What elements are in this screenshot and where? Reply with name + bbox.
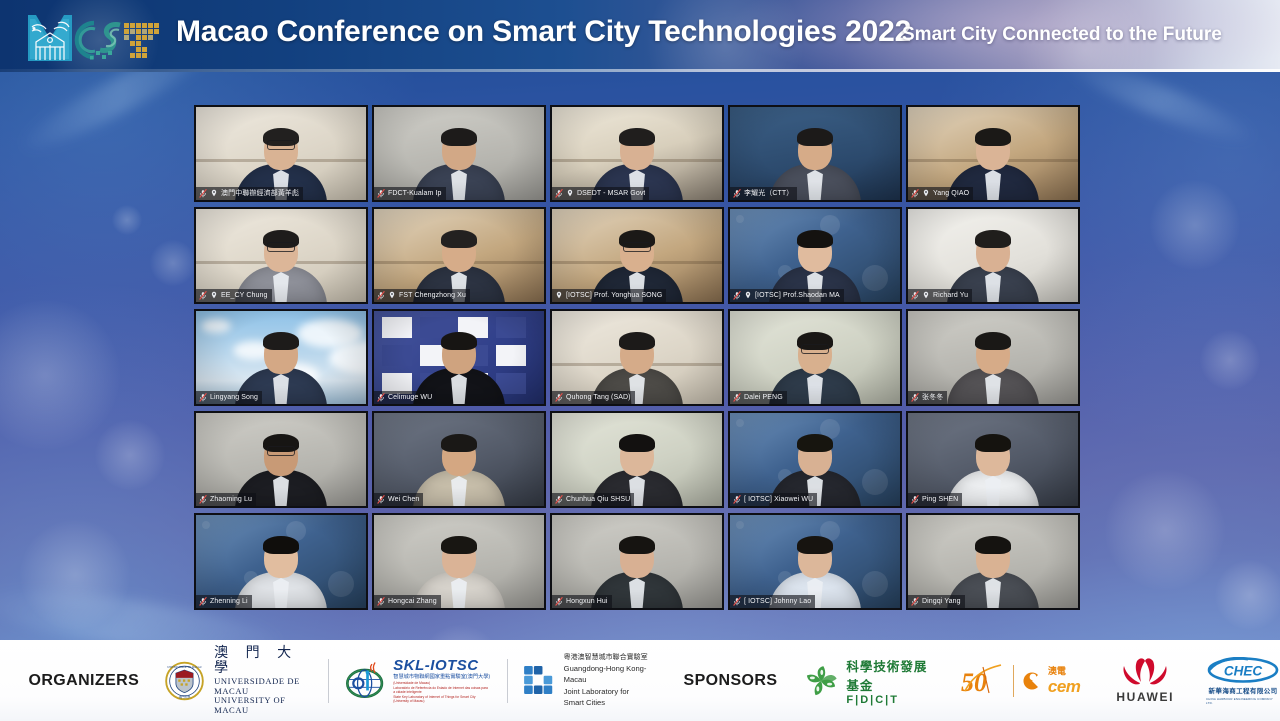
fdct-flower-icon xyxy=(803,658,839,704)
logo-joint-laboratory: 粵港澳智慧城市聯合實驗室 Guangdong-Hong Kong-Macau J… xyxy=(521,653,648,709)
chec-name-sub: CHINA HARBOUR ENGINEERING COMPANY LTD. xyxy=(1206,697,1280,705)
participant-name: Hongxun Hui xyxy=(566,595,608,608)
participant-tile[interactable]: FST Chengzhong Xu xyxy=(372,207,546,304)
bokeh-dot xyxy=(1200,330,1260,390)
participant-name: 澳門中聯辦經濟部黃羊彪 xyxy=(221,187,299,200)
participant-tile[interactable]: [ IOTSC] Xiaowei WU xyxy=(728,411,902,508)
mic-muted-icon xyxy=(733,495,741,504)
mic-muted-icon xyxy=(199,291,207,300)
mic-muted-icon xyxy=(555,495,563,504)
header-subtitle: Smart City Connected to the Future xyxy=(902,24,1222,46)
bokeh-dot xyxy=(20,520,130,630)
participant-name: 张冬冬 xyxy=(922,391,943,404)
mic-muted-icon xyxy=(199,393,207,402)
participant-nameplate: [ IOTSC] Xiaowei WU xyxy=(730,493,817,506)
cem-name-cn: 澳電 xyxy=(1048,664,1081,677)
cube-blocks-icon xyxy=(521,658,555,702)
participant-nameplate: Quhong Tang (SAD) xyxy=(552,391,635,404)
logo-university-of-macau: UNIVERSIDADE DE MACAU 澳門大學 澳 門 大 學 UNIVE… xyxy=(165,646,310,715)
mic-muted-icon xyxy=(911,189,919,198)
pin-icon xyxy=(922,291,930,300)
bokeh-dot xyxy=(112,205,142,235)
mic-muted-icon xyxy=(555,189,563,198)
huawei-flower-icon xyxy=(1118,658,1172,688)
participant-tile[interactable]: EE_CY Chung xyxy=(194,207,368,304)
mic-muted-icon xyxy=(377,189,385,198)
pin-icon xyxy=(210,291,218,300)
logo-fdct: 科學技術發展基金 F|D|C|T xyxy=(803,656,930,706)
participant-nameplate: Zhaoming Lu xyxy=(196,493,256,506)
mic-muted-icon xyxy=(911,393,919,402)
participant-tile[interactable]: Wei Chen xyxy=(372,411,546,508)
fdct-name-en: F|D|C|T xyxy=(846,694,930,706)
participant-nameplate: 李耀光（CTT） xyxy=(730,187,797,200)
participant-name: [IOTSC] Prof. Yonghua SONG xyxy=(566,289,662,302)
participant-tile[interactable]: Dingqi Yang xyxy=(906,513,1080,610)
participant-name: Dingqi Yang xyxy=(922,595,961,608)
chec-mark-icon: CHEC xyxy=(1206,657,1280,683)
participant-tile[interactable]: DSEDT - MSAR Govt xyxy=(550,105,724,202)
participant-nameplate: Dalei PENG xyxy=(730,391,787,404)
bokeh-dot xyxy=(1215,560,1280,630)
participant-nameplate: Hongcai Zhang xyxy=(374,595,441,608)
participant-tile[interactable]: Quhong Tang (SAD) xyxy=(550,309,724,406)
mic-muted-icon xyxy=(733,291,741,300)
participant-name: Yang QIAO xyxy=(933,187,969,200)
participant-nameplate: Wei Chen xyxy=(374,493,423,506)
participant-nameplate: FST Chengzhong Xu xyxy=(374,289,470,302)
participant-name: 李耀光（CTT） xyxy=(744,187,793,200)
svg-text:UNIVERSIDADE DE MACAU: UNIVERSIDADE DE MACAU xyxy=(168,666,202,669)
bokeh-dot xyxy=(0,300,120,450)
participant-tile[interactable]: [ IOTSC] Johnny Lao xyxy=(728,513,902,610)
pin-icon xyxy=(566,189,574,198)
participant-nameplate: Yang QIAO xyxy=(908,187,973,200)
participant-name: FST Chengzhong Xu xyxy=(399,289,466,302)
cem-swirl-icon xyxy=(1020,669,1042,693)
participant-nameplate: EE_CY Chung xyxy=(196,289,272,302)
participant-tile[interactable]: Chunhua Qiu SHSU xyxy=(550,411,724,508)
skl-title: SKL-IOTSC xyxy=(393,657,490,674)
mic-muted-icon xyxy=(377,393,385,402)
participant-tile[interactable]: Richard Yu xyxy=(906,207,1080,304)
pin-icon xyxy=(555,291,563,300)
participant-nameplate: [ IOTSC] Johnny Lao xyxy=(730,595,815,608)
mic-muted-icon xyxy=(733,393,741,402)
participant-name: [ IOTSC] Johnny Lao xyxy=(744,595,811,608)
participant-tile[interactable]: Ping SHEN xyxy=(906,411,1080,508)
participant-nameplate: [IOTSC] Prof. Yonghua SONG xyxy=(552,289,666,302)
um-crest-icon: UNIVERSIDADE DE MACAU 澳門大學 xyxy=(165,656,204,706)
participant-tile[interactable]: Zhaoming Lu xyxy=(194,411,368,508)
participant-tile[interactable]: Hongcai Zhang xyxy=(372,513,546,610)
joint-lab-en2: Joint Laboratory for Smart Cities xyxy=(564,686,649,709)
participant-nameplate: 张冬冬 xyxy=(908,391,947,404)
participant-tile[interactable]: Yang QIAO xyxy=(906,105,1080,202)
skl-name-sub1: Laboratório de Referência do Estado de I… xyxy=(393,686,490,695)
participant-tile[interactable]: FDCT-Kualam Ip xyxy=(372,105,546,202)
logo-cem: 50 澳電 cem xyxy=(959,661,1081,701)
participant-nameplate: FDCT-Kualam Ip xyxy=(374,187,446,200)
um-name-en: UNIVERSITY OF MACAU xyxy=(214,696,310,715)
mic-muted-icon xyxy=(911,495,919,504)
mic-muted-icon xyxy=(555,597,563,606)
participant-name: FDCT-Kualam Ip xyxy=(388,187,442,200)
participant-nameplate: Dingqi Yang xyxy=(908,595,965,608)
participant-tile[interactable]: [IOTSC] Prof.Shaodan MA xyxy=(728,207,902,304)
pin-icon xyxy=(388,291,396,300)
participant-nameplate: Richard Yu xyxy=(908,289,972,302)
participant-tile[interactable]: 张冬冬 xyxy=(906,309,1080,406)
participant-tile[interactable]: Hongxun Hui xyxy=(550,513,724,610)
footer-divider xyxy=(328,659,329,703)
svg-text:澳門大學: 澳門大學 xyxy=(179,693,191,698)
mic-muted-icon xyxy=(733,189,741,198)
bokeh-dot xyxy=(1150,180,1240,270)
bokeh-dot xyxy=(150,240,196,286)
pin-icon xyxy=(744,291,752,300)
participant-name: [IOTSC] Prof.Shaodan MA xyxy=(755,289,840,302)
um-name-cn: 澳 門 大 學 xyxy=(214,646,310,677)
cem-name-en: cem xyxy=(1048,677,1081,697)
skl-name-sub2: State Key Laboratory of Internet of Thin… xyxy=(393,695,490,704)
iot-globe-icon xyxy=(345,658,387,704)
participant-nameplate: Lingyang Song xyxy=(196,391,262,404)
skl-name-cn: 智慧城市物聯網國家重點實驗室(澳門大學) xyxy=(393,674,490,681)
participant-name: Lingyang Song xyxy=(210,391,258,404)
participant-name: Chunhua Qiu SHSU xyxy=(566,493,630,506)
mic-muted-icon xyxy=(199,189,207,198)
participant-name: Wei Chen xyxy=(388,493,419,506)
participant-tile[interactable]: Lingyang Song xyxy=(194,309,368,406)
sponsor-footer: ORGANIZERS UNIVERSIDADE DE MACAU 澳門大學 澳 … xyxy=(0,640,1280,721)
conference-header: Macao Conference on Smart City Technolog… xyxy=(0,0,1280,72)
cem-50th-icon: 50 xyxy=(959,661,1007,701)
participant-tile[interactable]: 李耀光（CTT） xyxy=(728,105,902,202)
participant-tile[interactable]: Dalei PENG xyxy=(728,309,902,406)
huawei-name-en: HUAWEI xyxy=(1116,690,1174,704)
participant-name: [ IOTSC] Xiaowei WU xyxy=(744,493,813,506)
participant-name: Celimuge WU xyxy=(388,391,432,404)
mic-muted-icon xyxy=(199,597,207,606)
conference-screenshot: Macao Conference on Smart City Technolog… xyxy=(0,0,1280,721)
gallery-grid: 澳門中聯辦經濟部黃羊彪FDCT-Kualam IpDSEDT - MSAR Go… xyxy=(194,105,1086,620)
mic-muted-icon xyxy=(377,291,385,300)
logo-skl-iotsc: SKL-IOTSC 智慧城市物聯網國家重點實驗室(澳門大學) (Universi… xyxy=(345,657,491,704)
bokeh-dot xyxy=(95,420,165,490)
participant-nameplate: [IOTSC] Prof.Shaodan MA xyxy=(730,289,844,302)
participant-tile[interactable]: [IOTSC] Prof. Yonghua SONG xyxy=(550,207,724,304)
mcsct-logo xyxy=(24,9,172,65)
mic-muted-icon xyxy=(199,495,207,504)
joint-lab-en1: Guangdong-Hong Kong-Macau xyxy=(564,663,649,686)
participant-nameplate: Celimuge WU xyxy=(374,391,436,404)
joint-lab-cn: 粵港澳智慧城市聯合實驗室 xyxy=(564,653,649,663)
participant-name: Zhenning Li xyxy=(210,595,248,608)
participant-nameplate: Hongxun Hui xyxy=(552,595,612,608)
um-name-pt: UNIVERSIDADE DE MACAU xyxy=(214,677,310,696)
participant-nameplate: Chunhua Qiu SHSU xyxy=(552,493,634,506)
mic-muted-icon xyxy=(555,393,563,402)
participant-nameplate: Zhenning Li xyxy=(196,595,252,608)
mic-muted-icon xyxy=(377,597,385,606)
pin-icon xyxy=(922,189,930,198)
participant-name: Quhong Tang (SAD) xyxy=(566,391,631,404)
participant-name: Zhaoming Lu xyxy=(210,493,252,506)
sponsors-label: SPONSORS xyxy=(684,672,778,690)
participant-name: Richard Yu xyxy=(933,289,968,302)
participant-name: Hongcai Zhang xyxy=(388,595,437,608)
participant-nameplate: DSEDT - MSAR Govt xyxy=(552,187,649,200)
pin-icon xyxy=(210,189,218,198)
footer-divider xyxy=(507,659,508,703)
participant-name: EE_CY Chung xyxy=(221,289,268,302)
mic-muted-icon xyxy=(911,597,919,606)
mic-muted-icon xyxy=(733,597,741,606)
organizers-label: ORGANIZERS xyxy=(29,672,140,690)
participant-tile[interactable]: Zhenning Li xyxy=(194,513,368,610)
participant-nameplate: 澳門中聯辦經濟部黃羊彪 xyxy=(196,187,303,200)
fdct-name-cn: 科學技術發展基金 xyxy=(846,656,930,694)
mic-muted-icon xyxy=(377,495,385,504)
svg-text:CHEC: CHEC xyxy=(1224,663,1263,678)
participant-tile[interactable]: 澳門中聯辦經濟部黃羊彪 xyxy=(194,105,368,202)
logo-chec: CHEC 新華海商工程有限公司 CHINA HARBOUR ENGINEERIN… xyxy=(1206,657,1280,705)
participant-name: Ping SHEN xyxy=(922,493,958,506)
participant-name: Dalei PENG xyxy=(744,391,783,404)
chec-name-cn: 新華海商工程有限公司 xyxy=(1209,685,1278,695)
bokeh-dot xyxy=(1105,470,1225,590)
logo-huawei: HUAWEI xyxy=(1116,658,1174,704)
mic-muted-icon xyxy=(911,291,919,300)
page-title: Macao Conference on Smart City Technolog… xyxy=(176,15,911,49)
participant-tile[interactable]: Celimuge WU xyxy=(372,309,546,406)
participant-nameplate: Ping SHEN xyxy=(908,493,962,506)
participant-name: DSEDT - MSAR Govt xyxy=(577,187,645,200)
